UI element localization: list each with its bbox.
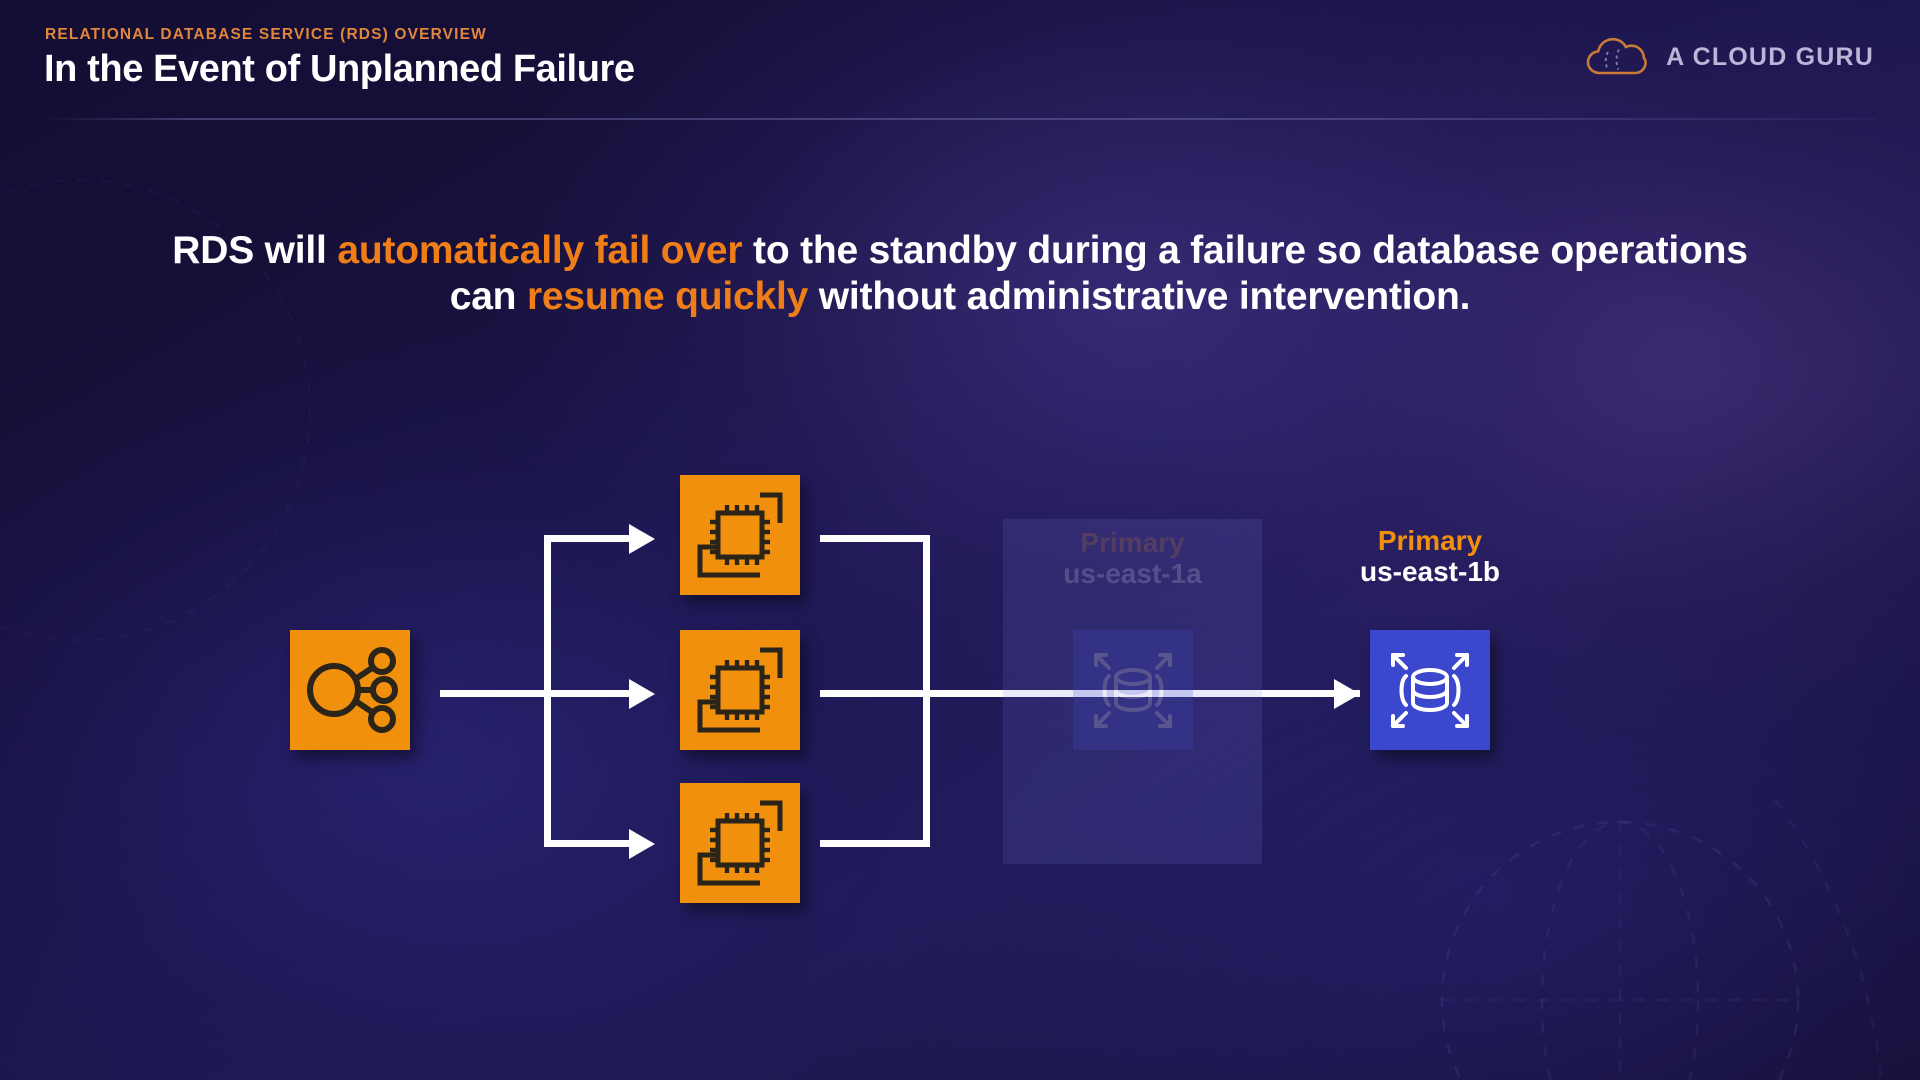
- ec2-instance-icon: [680, 783, 800, 903]
- connector-lb-to-split: [440, 690, 550, 697]
- rds-database-icon: [1370, 630, 1490, 750]
- active-az-role: Primary: [1275, 525, 1585, 556]
- connector-merge-bottom: [820, 840, 930, 847]
- ec2-instance-icon: [680, 630, 800, 750]
- failed-az-label: Primary us-east-1a: [1003, 527, 1262, 590]
- slide-canvas: RELATIONAL DATABASE SERVICE (RDS) OVERVI…: [0, 0, 1920, 1080]
- failed-az-role: Primary: [1003, 527, 1262, 558]
- load-balancer-tile[interactable]: [290, 630, 410, 750]
- ec2-instance-tile[interactable]: [680, 783, 800, 903]
- ec2-instance-icon: [680, 475, 800, 595]
- arrowhead-to-active-database: [1334, 679, 1360, 709]
- connector-branch-top: [544, 535, 629, 542]
- architecture-diagram: Primary us-east-1a Primary us: [0, 0, 1920, 1080]
- active-database-tile[interactable]: [1370, 630, 1490, 750]
- connector-branch-bottom: [544, 840, 629, 847]
- rds-database-icon: [1073, 630, 1193, 750]
- active-az-zone: us-east-1b: [1275, 556, 1585, 587]
- arrowhead-branch-bottom: [629, 829, 655, 859]
- arrowhead-branch-top: [629, 524, 655, 554]
- load-balancer-icon: [290, 630, 410, 750]
- active-az-label: Primary us-east-1b: [1275, 525, 1585, 588]
- connector-branch-middle: [544, 690, 629, 697]
- ec2-instance-tile[interactable]: [680, 475, 800, 595]
- failed-database-tile[interactable]: [1073, 630, 1193, 750]
- connector-merge-top: [820, 535, 930, 542]
- arrowhead-branch-middle: [629, 679, 655, 709]
- ec2-instance-tile[interactable]: [680, 630, 800, 750]
- failed-az-zone: us-east-1a: [1003, 558, 1262, 589]
